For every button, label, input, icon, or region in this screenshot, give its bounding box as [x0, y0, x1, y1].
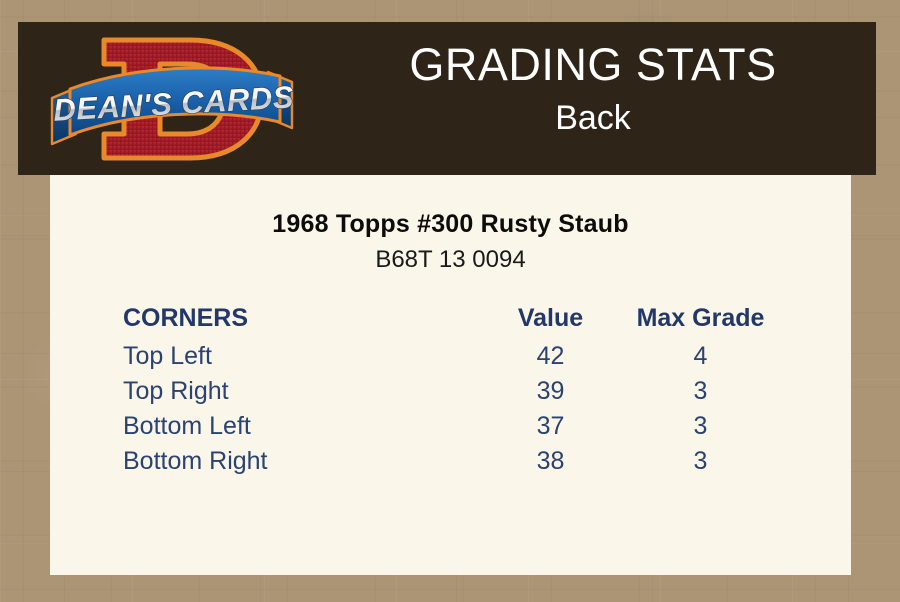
- corner-max-grade: 3: [623, 374, 778, 409]
- corner-label: Top Right: [123, 374, 478, 409]
- corner-label: Bottom Left: [123, 409, 478, 444]
- corner-label: Bottom Right: [123, 444, 478, 479]
- card-serial-number: B68T 13 0094: [50, 246, 851, 274]
- table-header-row: CORNERS Value Max Grade: [123, 304, 778, 339]
- corner-value: 38: [478, 444, 623, 479]
- grading-stats-table: CORNERS Value Max Grade Top Left424Top R…: [123, 304, 778, 479]
- corner-value: 39: [478, 374, 623, 409]
- corner-max-grade: 3: [623, 444, 778, 479]
- corner-value: 37: [478, 409, 623, 444]
- table-row: Bottom Left373: [123, 409, 778, 444]
- page-title: GRADING STATS: [318, 38, 868, 92]
- table-body: Top Left424Top Right393Bottom Left373Bot…: [123, 339, 778, 479]
- card-title: 1968 Topps #300 Rusty Staub: [50, 210, 851, 239]
- table-row: Bottom Right383: [123, 444, 778, 479]
- header-titles: GRADING STATS Back: [318, 38, 868, 140]
- column-header-corners: CORNERS: [123, 304, 478, 339]
- corner-max-grade: 3: [623, 409, 778, 444]
- column-header-value: Value: [478, 304, 623, 339]
- column-header-max-grade: Max Grade: [623, 304, 778, 339]
- content-panel: 1968 Topps #300 Rusty Staub B68T 13 0094…: [50, 175, 851, 575]
- corner-max-grade: 4: [623, 339, 778, 374]
- header-band: DEAN'S CARDS GRADING STATS Back: [18, 22, 876, 175]
- corner-value: 42: [478, 339, 623, 374]
- table-row: Top Left424: [123, 339, 778, 374]
- page-subtitle: Back: [318, 96, 868, 140]
- deans-cards-logo[interactable]: DEAN'S CARDS: [40, 26, 310, 172]
- table-row: Top Right393: [123, 374, 778, 409]
- corner-label: Top Left: [123, 339, 478, 374]
